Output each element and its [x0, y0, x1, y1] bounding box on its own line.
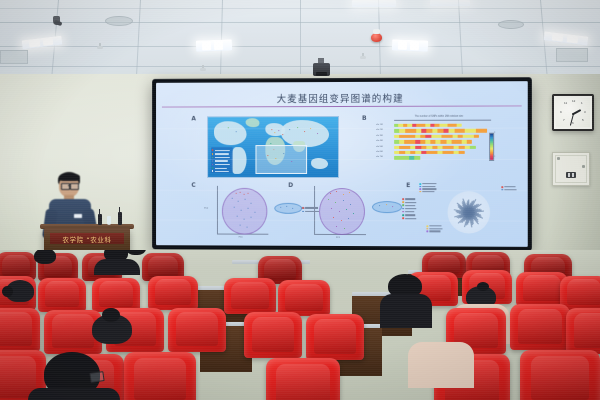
pca-plot-d: PC1 PC2 — [300, 184, 412, 242]
heatmap-chromosome-bar — [394, 145, 475, 148]
audience-seating-area — [0, 250, 600, 400]
clock-number: 5 — [582, 119, 584, 122]
clock-number: 6 — [572, 122, 574, 125]
legend-dot — [402, 217, 404, 219]
map-legend-dot — [212, 167, 214, 169]
panel-label-c: C — [191, 182, 195, 189]
heatmap-cell — [470, 145, 475, 148]
auditorium-seat[interactable] — [148, 276, 198, 310]
pca-d-xlabel: PC1 — [336, 237, 340, 239]
ceiling — [0, 0, 600, 76]
audience-hair-bun — [102, 308, 120, 322]
map-landmass-greenland — [246, 118, 260, 127]
electrical-panel-icon — [552, 152, 590, 186]
microphone-icon — [98, 214, 102, 225]
map-legend-dot — [212, 149, 214, 151]
ceiling-light — [22, 36, 63, 50]
clock-number: 12 — [572, 100, 575, 103]
legend-dot — [402, 198, 404, 200]
map-legend-label — [215, 150, 230, 151]
legend-label — [429, 228, 442, 229]
auditorium-seat[interactable] — [520, 350, 600, 400]
audience-head — [34, 250, 56, 264]
auditorium-seat[interactable] — [244, 312, 302, 358]
smoke-detector-icon — [360, 56, 366, 59]
heatmap-chromosome-bar — [394, 129, 487, 133]
ceiling-light — [392, 39, 428, 51]
legend-dot — [501, 186, 503, 188]
pca-c-xlabel: PC1 — [239, 237, 243, 239]
legend-dot — [426, 228, 428, 230]
clock-number: 11 — [564, 102, 567, 105]
microphone-icon — [118, 212, 122, 225]
podium-banner: 农学院 “农业科 — [50, 233, 124, 244]
audience-shoulders-foreground — [28, 388, 120, 400]
panel-label-e: E — [406, 182, 410, 189]
pca-d-legend — [402, 198, 416, 222]
map-legend-dot — [212, 157, 214, 159]
ceiling-vent-grille — [556, 48, 588, 62]
panel-screw — [557, 157, 560, 160]
screen-display-area: 大麦基因组变异图谱的构建 A — [156, 81, 528, 247]
phylogeny-legend-bottom — [426, 225, 443, 234]
heatmap-cell — [467, 140, 472, 143]
heatmap-chromosome-bar — [394, 151, 464, 154]
legend-label — [405, 202, 416, 203]
auditorium-seat[interactable] — [560, 276, 600, 310]
audience-hair-bun — [477, 282, 489, 291]
heatmap-chromosome-bar — [394, 140, 472, 144]
panel-label-d: D — [288, 182, 293, 189]
pca-d-cluster-ellipse — [319, 188, 365, 235]
ceiling-light — [430, 0, 470, 6]
speaker-sweater-logo — [74, 214, 82, 218]
breaker-switch — [566, 172, 576, 178]
legend-dot — [402, 208, 404, 210]
speaker-glasses-right-lens — [70, 183, 79, 190]
heatmap-title: The number of SNPs within 1Mb window siz… — [376, 115, 502, 118]
legend-dot — [402, 214, 404, 216]
clock-number: 3 — [584, 111, 586, 114]
smoke-detector-icon — [97, 46, 103, 49]
security-camera-icon — [53, 16, 60, 25]
map-legend-label — [215, 164, 230, 165]
legend-label — [429, 225, 441, 226]
auditorium-seat[interactable] — [168, 308, 226, 352]
legend-label — [405, 198, 415, 199]
map-legend-label — [215, 153, 229, 154]
colorbar-min-label: 1 — [494, 156, 495, 158]
pca-c-ylabel: PC2 — [204, 208, 208, 210]
map-legend-dot — [212, 153, 214, 155]
panel-label-a: A — [191, 115, 196, 122]
heatmap-row-label: chr 3H — [376, 135, 382, 137]
legend-dot — [402, 205, 404, 207]
clock-number: 1 — [581, 102, 583, 105]
heatmap-row-label: chr 6H — [376, 151, 382, 153]
pca-d-ylabel: PC2 — [301, 208, 305, 210]
audience-head — [126, 250, 146, 255]
ceiling-vent — [105, 16, 133, 26]
auditorium-seat[interactable] — [0, 308, 40, 352]
auditorium-seat[interactable] — [92, 278, 140, 312]
panel-label-b: B — [362, 115, 367, 122]
heatmap-row-label: chr 4H — [376, 140, 382, 142]
legend-dot — [419, 183, 421, 185]
clock-center-pin — [572, 113, 574, 115]
legend-dot — [402, 211, 404, 213]
legend-dot — [402, 201, 404, 203]
legend-dot — [426, 225, 428, 227]
projector-icon — [313, 63, 330, 76]
audience-hair-bun — [2, 286, 13, 297]
map-legend-dot — [212, 164, 214, 166]
ceiling-light — [352, 0, 396, 7]
map-legend-dot — [212, 160, 214, 162]
phylogeny-legend-top — [419, 183, 437, 194]
audience-shoulders — [380, 294, 432, 328]
colorbar-max-label: 0 — [494, 132, 495, 134]
ceiling-light — [544, 31, 589, 45]
pca-d-cluster-ellipse-2 — [372, 201, 402, 213]
legend-label — [405, 218, 416, 219]
phylogeny-branches — [448, 191, 491, 233]
clock-number: 7 — [563, 119, 565, 122]
water-bottle — [107, 216, 111, 225]
pca-plot-c: PC1 PC2 — [203, 184, 307, 242]
slide-title: 大麦基因组变异图谱的构建 — [156, 90, 528, 105]
legend-dot — [419, 186, 421, 188]
pca-c-cluster-ellipse-2 — [274, 203, 302, 214]
legend-label — [405, 205, 415, 206]
legend-label — [405, 208, 416, 209]
speaker-glasses-bridge — [68, 185, 71, 186]
legend-label — [429, 231, 440, 232]
legend-dot — [426, 231, 428, 233]
auditorium-seat[interactable] — [566, 308, 600, 354]
clock-number: 9 — [560, 111, 562, 114]
world-map-figure — [207, 116, 339, 178]
snp-heatmap-figure: The number of SNPs within 1Mb window siz… — [376, 115, 502, 178]
clock-face: 12 3 6 9 1 11 5 7 — [556, 98, 590, 127]
legend-label — [504, 186, 515, 187]
podium-banner-text: 农学院 “农业科 — [62, 234, 111, 244]
ceiling-light — [196, 39, 232, 51]
fire-alarm-bell-icon — [371, 33, 382, 42]
map-legend-label — [215, 160, 228, 161]
speaker-hair-front — [59, 173, 80, 181]
lecture-hall-photo: 12 3 6 9 1 11 5 7 大麦基因组变异图谱的构建 — [0, 0, 600, 400]
map-legend-dot — [212, 170, 214, 172]
auditorium-seat[interactable] — [124, 352, 196, 400]
heatmap-cell — [482, 129, 488, 132]
auditorium-seat[interactable] — [266, 358, 340, 400]
smoke-detector-icon — [200, 68, 206, 71]
audience-shoulders — [94, 259, 140, 275]
auditorium-seat[interactable] — [510, 304, 570, 350]
auditorium-seat[interactable] — [224, 278, 276, 314]
wall-clock: 12 3 6 9 1 11 5 7 — [552, 94, 594, 131]
legend-label — [405, 214, 415, 215]
map-landmass-asia — [281, 120, 329, 147]
audience-glasses-icon — [89, 371, 104, 383]
heatmap-row-label: chr 1H — [376, 124, 382, 126]
heatmap-row-label: chr 2H — [376, 129, 382, 131]
ceiling-vent-grille — [0, 50, 28, 64]
legend-label — [405, 211, 414, 212]
panel-screw — [582, 165, 585, 168]
pca-c-cluster-ellipse — [222, 188, 267, 235]
auditorium-seat[interactable] — [278, 280, 330, 316]
ceiling-vent — [498, 20, 524, 29]
auditorium-seat[interactable] — [38, 278, 86, 312]
auditorium-seat[interactable] — [306, 314, 364, 360]
map-legend-label — [215, 157, 230, 158]
audience-shoulders-foreground — [408, 342, 474, 388]
speaker-glasses-left-lens — [61, 183, 70, 190]
heatmap-row-label: chr 5H — [376, 146, 382, 148]
legend-label — [422, 183, 436, 184]
map-landmass-north-america — [214, 121, 247, 145]
presentation-screen[interactable]: 大麦基因组变异图谱的构建 A — [152, 77, 532, 251]
legend-label — [422, 186, 435, 187]
heatmap-cell — [459, 151, 464, 154]
heatmap-cell — [457, 124, 462, 127]
heatmap-cell — [473, 135, 478, 138]
map-legend-label — [215, 171, 229, 172]
map-legend-label — [215, 168, 227, 169]
heatmap-chromosome-bar — [394, 135, 479, 139]
